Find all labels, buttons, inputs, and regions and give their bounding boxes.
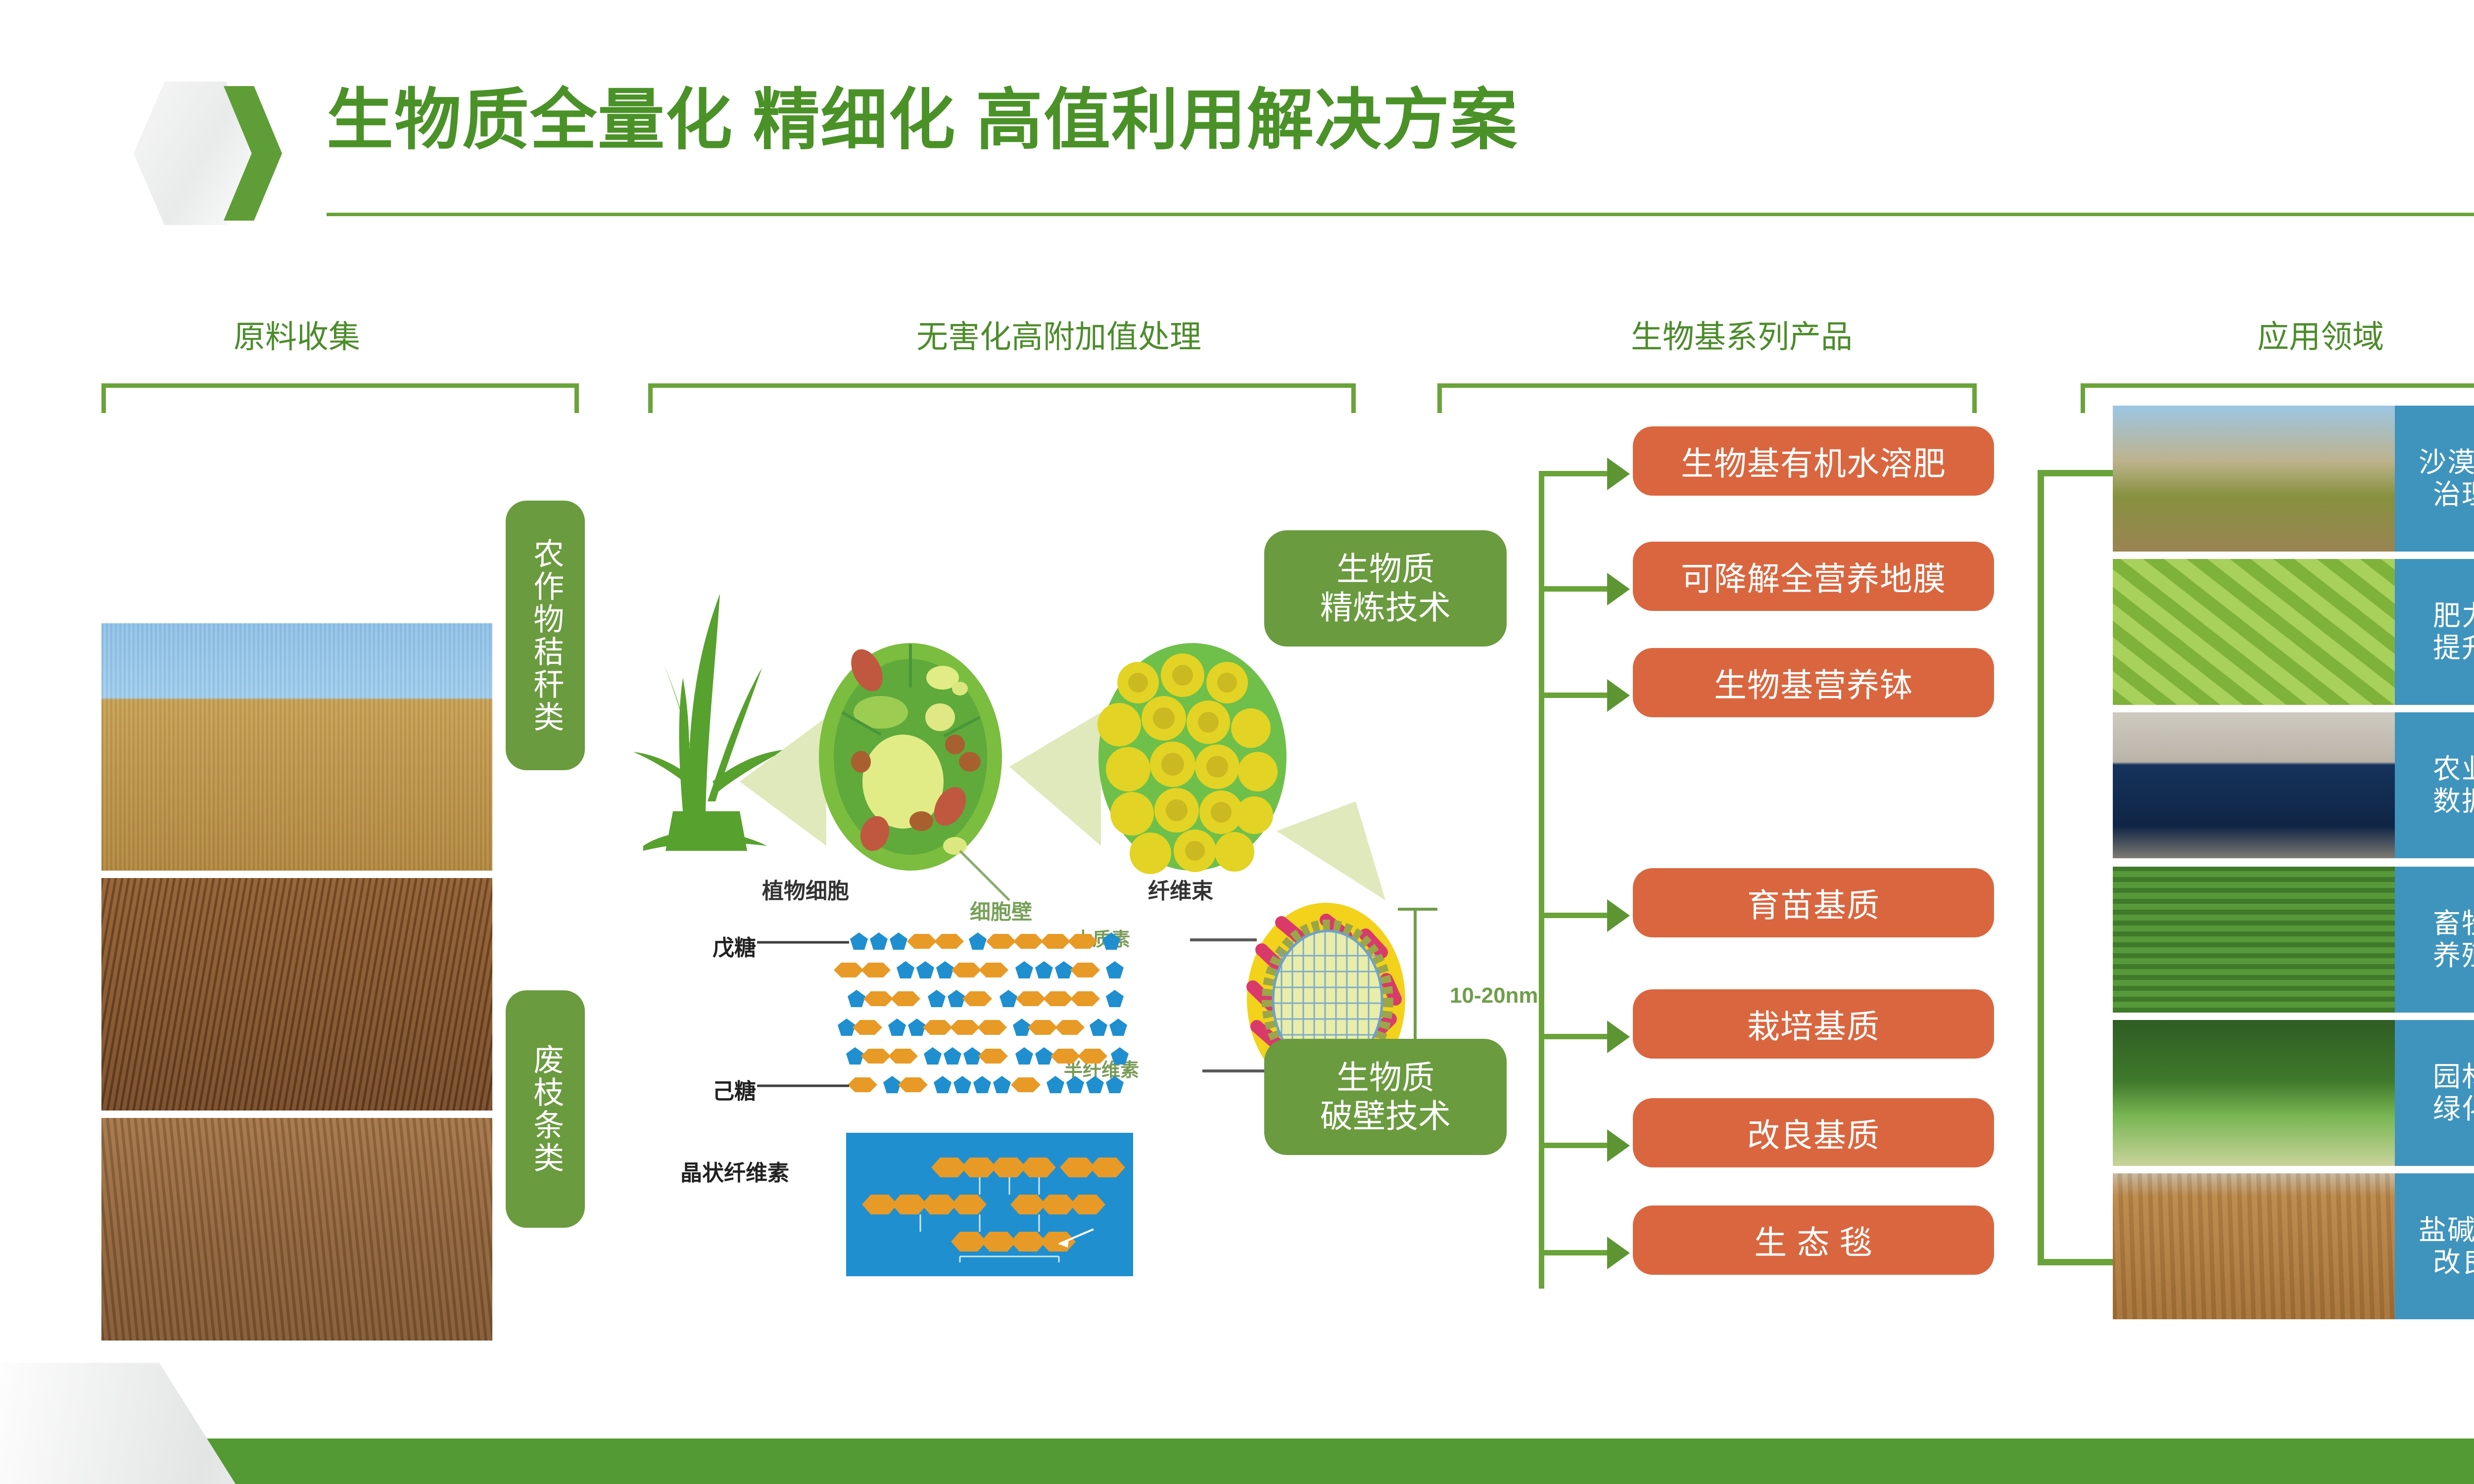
fiber-bundle-label: 纤维束	[1148, 873, 1213, 905]
app-label-line-2: 改良	[2433, 1247, 2474, 1279]
desert-control-photo	[2113, 406, 2395, 552]
app-label-line-2: 绿化	[2433, 1093, 2474, 1125]
app-label-line-2: 提升	[2433, 632, 2474, 664]
app-card-saline-land[interactable]: 盐碱地 改良	[2113, 1173, 2474, 1319]
connector-trunk-bottom	[1539, 913, 1544, 1289]
arrow-bottom-2	[1607, 1020, 1630, 1053]
connector-branch-bottom-3	[1539, 1143, 1608, 1148]
connector-branch-top-1	[1539, 471, 1608, 476]
saline-land-photo	[2113, 1173, 2395, 1319]
material-category-waste-branches: 废枝条类	[506, 990, 585, 1228]
app-card-fertility[interactable]: 肥力 提升	[2113, 559, 2474, 705]
arrow-bottom-4	[1607, 1237, 1630, 1269]
tech-biomass-wall-breaking[interactable]: 生物质 破壁技术	[1264, 1039, 1507, 1155]
arrow-top-1	[1607, 458, 1630, 490]
app-label-line-2: 数据	[2433, 786, 2474, 818]
connector-branch-bottom-2	[1539, 1034, 1608, 1039]
product-pill-3[interactable]: 生物基营养钵	[1633, 648, 1994, 717]
app-label-fertility: 肥力 提升	[2395, 559, 2474, 705]
crystalline-cellulose-label: 晶状纤维素	[680, 1155, 789, 1187]
tech-line-1: 生物质	[1336, 550, 1434, 589]
dry-branches-photo	[101, 878, 492, 1111]
cell-wall-leader-line	[960, 851, 1009, 900]
product-pill-1[interactable]: 生物基有机水溶肥	[1633, 426, 1994, 496]
plant-cell-illustration	[819, 643, 1002, 871]
product-pill-7[interactable]: 生 态 毯	[1633, 1206, 1994, 1275]
connector-branch-bottom-1	[1539, 913, 1608, 918]
bracket-products	[1437, 383, 1977, 413]
section-title-products: 生物基系列产品	[1420, 312, 2063, 357]
orchard-pruning-photo	[101, 1118, 492, 1341]
app-label-desertification: 沙漠化 治理	[2395, 406, 2474, 552]
app-label-line-2: 治理	[2433, 479, 2474, 511]
corn-stalk-field-photo	[101, 408, 492, 616]
pentose-label: 戊糖	[713, 930, 756, 962]
product-pill-2[interactable]: 可降解全营养地膜	[1633, 542, 1994, 611]
app-card-agri-data[interactable]: 农业 数据	[2113, 712, 2474, 858]
data-control-room-photo	[2113, 712, 2395, 858]
plant-icon	[633, 594, 787, 851]
tech-line-2: 破壁技术	[1320, 1097, 1451, 1136]
connector-branch-top-3	[1539, 693, 1608, 698]
sheep-grazing-photo	[2113, 867, 2395, 1013]
arrow-bottom-3	[1607, 1129, 1630, 1162]
app-card-landscaping[interactable]: 园林 绿化	[2113, 1020, 2474, 1166]
app-card-livestock[interactable]: 畜牧 养殖	[2113, 867, 2474, 1013]
scale-label: 10-20nm	[1450, 983, 1538, 1008]
page-header: 生物质全量化 精细化 高值利用解决方案	[0, 0, 2474, 277]
connector-branch-bottom-4	[1539, 1250, 1608, 1255]
section-title-applications: 应用领域	[2113, 312, 2474, 357]
app-label-landscaping: 园林 绿化	[2395, 1020, 2474, 1166]
connector-branch-top-2	[1539, 586, 1608, 592]
section-title-raw-material: 原料收集	[99, 312, 495, 357]
app-label-livestock: 畜牧 养殖	[2395, 867, 2474, 1013]
product-pill-6[interactable]: 改良基质	[1633, 1098, 1994, 1167]
app-label-line-1: 畜牧	[2433, 908, 2474, 940]
cabbage-field-photo	[2113, 559, 2395, 705]
straw-bale-field-photo	[101, 623, 492, 871]
app-label-saline-land: 盐碱地 改良	[2395, 1173, 2474, 1319]
hexagon-chevron-logo-icon	[134, 82, 282, 225]
fiber-bundle-illustration	[1097, 643, 1286, 874]
plant-cell-label: 植物细胞	[762, 873, 849, 905]
tech-line-2: 精炼技术	[1320, 589, 1451, 627]
app-label-line-1: 农业	[2433, 753, 2474, 786]
bracket-processing	[648, 383, 1356, 413]
app-label-line-2: 养殖	[2433, 940, 2474, 972]
page-title: 生物质全量化 精细化 高值利用解决方案	[327, 87, 1518, 153]
landscape-greening-photo	[2113, 1020, 2395, 1166]
tech-line-1: 生物质	[1336, 1059, 1434, 1097]
app-label-line-1: 盐碱地	[2419, 1214, 2474, 1247]
app-label-line-1: 沙漠化	[2419, 447, 2474, 479]
arrow-top-2	[1607, 573, 1630, 605]
sugar-structure-svg	[683, 915, 1227, 1286]
product-pill-4[interactable]: 育苗基质	[1633, 868, 1994, 937]
arrow-top-3	[1607, 679, 1630, 712]
sugar-structure-diagram	[683, 915, 1227, 1286]
product-pill-5[interactable]: 栽培基质	[1633, 989, 1994, 1059]
tech-biomass-refining[interactable]: 生物质 精炼技术	[1264, 530, 1507, 647]
section-title-processing: 无害化高附加值处理	[643, 312, 1475, 357]
app-label-line-1: 肥力	[2433, 600, 2474, 632]
app-label-line-1: 园林	[2433, 1061, 2474, 1093]
hexose-label: 己糖	[713, 1073, 756, 1105]
app-bracket-spine	[2038, 470, 2044, 1265]
crystalline-cellulose-panel	[846, 1133, 1133, 1276]
material-category-crop-straw: 农作物秸秆类	[506, 501, 585, 770]
arrow-bottom-1	[1607, 899, 1630, 932]
app-card-desertification[interactable]: 沙漠化 治理	[2113, 406, 2474, 552]
hemicellulose-chain-graphic	[757, 932, 1129, 1093]
title-underline	[327, 213, 2474, 216]
app-label-agri-data: 农业 数据	[2395, 712, 2474, 858]
footer-bar	[0, 1438, 2474, 1484]
